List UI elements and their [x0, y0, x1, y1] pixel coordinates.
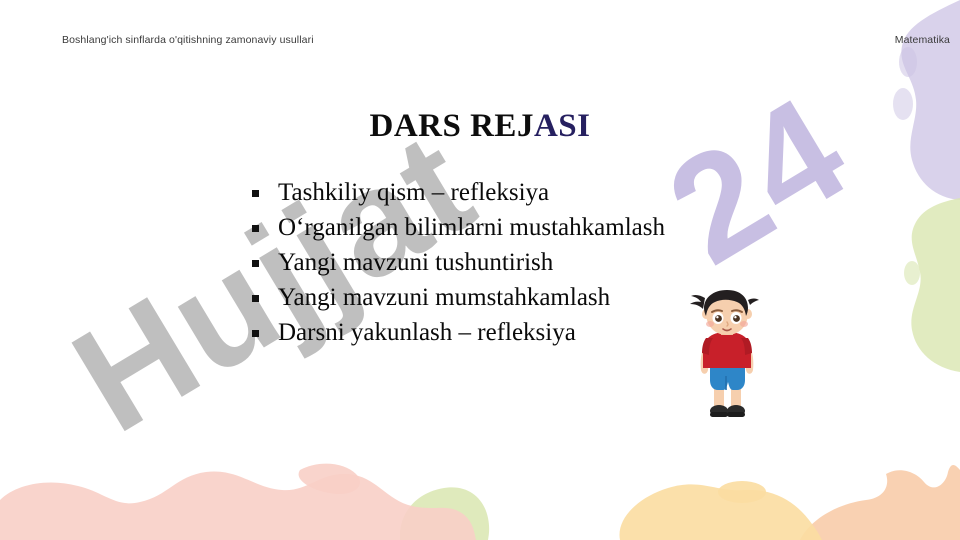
green-blob-right — [904, 198, 960, 372]
page-title: DARS REJASI — [0, 108, 960, 145]
cartoon-boy-illustration — [684, 288, 770, 424]
list-item: Tashkiliy qism – refleksiya — [252, 175, 772, 210]
list-item-label: Yangi mavzuni mumstahkamlash — [278, 284, 610, 311]
page-title-tail: ASI — [534, 108, 591, 144]
list-item-label: Yangi mavzuni tushuntirish — [278, 249, 553, 276]
peach-blob-bottom-right — [800, 465, 960, 540]
square-bullet-icon — [252, 260, 259, 267]
presentation-slide: Hujjat 24 Boshlang'ich sinflarda o'qitis… — [0, 0, 960, 540]
list-item-label: Tashkiliy qism – refleksiya — [278, 179, 549, 206]
square-bullet-icon — [252, 330, 259, 337]
square-bullet-icon — [252, 295, 259, 302]
page-title-head: DARS REJ — [370, 108, 534, 144]
yellow-blob-bottom-center-right — [619, 481, 822, 540]
square-bullet-icon — [252, 225, 259, 232]
lavender-blob-top-right — [893, 0, 960, 200]
header-subject: Matematika — [760, 33, 950, 48]
list-item-label: O‘rganilgan bilimlarni mustahkamlash — [278, 214, 665, 241]
pink-blob-bottom-left — [0, 464, 476, 540]
list-item-label: Darsni yakunlash – refleksiya — [278, 319, 576, 346]
list-item: Yangi mavzuni tushuntirish — [252, 245, 772, 280]
header-course-title: Boshlang'ich sinflarda o'qitishning zamo… — [62, 33, 362, 48]
list-item: O‘rganilgan bilimlarni mustahkamlash — [252, 210, 772, 245]
green-blob-bottom-center — [400, 487, 489, 540]
square-bullet-icon — [252, 190, 259, 197]
